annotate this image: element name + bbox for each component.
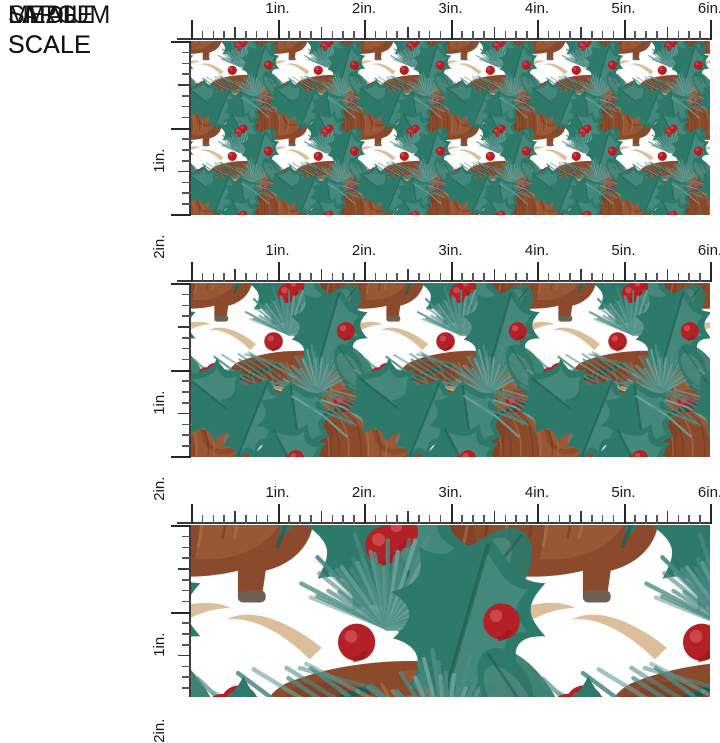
ruler-h-tick — [332, 31, 334, 40]
ruler-h-label: 5in. — [611, 484, 635, 501]
ruler-h-tick — [364, 504, 366, 524]
ruler-horizontal-large: 1in.2in.3in.4in.5in.6in. — [177, 502, 710, 524]
ruler-h-tick — [364, 20, 366, 40]
ruler-h-label: 2in. — [352, 484, 376, 501]
ruler-h-label: 6in. — [698, 484, 720, 501]
ruler-h-tick — [386, 515, 388, 524]
ruler-v-tick — [182, 337, 191, 339]
ruler-v-tick — [182, 622, 191, 624]
ruler-h-label: 5in. — [611, 242, 635, 259]
ruler-v-tick — [182, 203, 191, 205]
ruler-h-tick — [505, 273, 507, 282]
ruler-v-label: 1in. — [151, 148, 168, 172]
ruler-h-tick — [310, 31, 312, 40]
ruler-v-tick — [182, 149, 191, 151]
ruler-h-tick — [353, 31, 355, 40]
ruler-h-tick — [299, 31, 301, 40]
ruler-h-tick — [667, 269, 669, 282]
ruler-h-tick — [656, 515, 658, 524]
motif-holly-berry — [337, 322, 355, 340]
ruler-h-label: 6in. — [698, 0, 720, 17]
ruler-h-tick — [645, 273, 647, 282]
ruler-h-tick — [245, 273, 247, 282]
ruler-h-tick — [321, 27, 323, 40]
ruler-h-tick — [429, 31, 431, 40]
ruler-h-tick — [202, 31, 204, 40]
ruler-v-label: 2in. — [151, 235, 168, 259]
motif-holly-berry — [350, 61, 359, 70]
ruler-v-tick — [182, 644, 191, 646]
motif-holly-berry — [400, 66, 409, 75]
ruler-h-tick — [191, 262, 193, 282]
ruler-h-tick — [288, 273, 290, 282]
ruler-h-tick — [494, 511, 496, 524]
ruler-h-tick — [602, 515, 604, 524]
ruler-h-tick — [699, 31, 701, 40]
ruler-h-tick — [299, 515, 301, 524]
ruler-h-tick — [353, 515, 355, 524]
ruler-v-tick — [171, 370, 191, 372]
ruler-h-tick — [202, 273, 204, 282]
motif-holly-berry — [608, 61, 617, 70]
ruler-h-tick — [353, 273, 355, 282]
ruler-h-tick — [526, 31, 528, 40]
ruler-v-tick — [182, 305, 191, 307]
ruler-v-tick — [178, 568, 191, 570]
ruler-h-tick — [569, 31, 571, 40]
ruler-v-tick — [182, 192, 191, 194]
ruler-h-tick — [418, 273, 420, 282]
ruler-h-tick — [396, 273, 398, 282]
ruler-h-tick — [537, 262, 539, 282]
ruler-h-tick — [645, 515, 647, 524]
motif-holly-berry — [338, 624, 375, 661]
ruler-h-tick — [613, 31, 615, 40]
ruler-v-tick — [171, 41, 191, 43]
ruler-h-tick — [267, 273, 269, 282]
ruler-h-tick — [505, 31, 507, 40]
ruler-v-tick — [182, 402, 191, 404]
ruler-h-tick — [624, 20, 626, 40]
ruler-h-tick — [580, 269, 582, 282]
ruler-v-label: 2in. — [151, 477, 168, 501]
ruler-v-tick — [182, 348, 191, 350]
ruler-h-tick — [407, 27, 409, 40]
motif-holly-berry — [436, 61, 445, 70]
ruler-h-tick — [223, 31, 225, 40]
ruler-h-tick — [386, 31, 388, 40]
ruler-h-tick — [278, 20, 280, 40]
ruler-v-tick — [182, 391, 191, 393]
ruler-h-label: 4in. — [525, 484, 549, 501]
ruler-v-tick — [171, 283, 191, 285]
ruler-v-tick — [182, 380, 191, 382]
ruler-h-tick — [699, 515, 701, 524]
ruler-vertical-small: 1in.2in. — [169, 41, 191, 215]
ruler-h-tick — [483, 31, 485, 40]
ruler-v-tick — [182, 63, 191, 65]
motif-holly-berry — [228, 66, 237, 75]
ruler-h-label: 2in. — [352, 0, 376, 17]
ruler-h-tick — [559, 273, 561, 282]
ruler-h-tick — [526, 273, 528, 282]
motif-holly-berry — [264, 61, 273, 70]
ruler-h-tick — [407, 511, 409, 524]
ruler-v-tick — [178, 655, 191, 657]
ruler-h-tick — [580, 511, 582, 524]
motif-holly-berry — [522, 147, 531, 156]
ruler-h-tick — [710, 20, 712, 40]
ruler-h-tick — [634, 273, 636, 282]
motif-holly-berry — [486, 66, 495, 75]
ruler-h-tick — [451, 262, 453, 282]
ruler-h-tick — [375, 273, 377, 282]
ruler-h-tick — [667, 27, 669, 40]
motif-holly-berry — [608, 332, 627, 351]
ruler-h-tick — [634, 31, 636, 40]
ruler-h-tick — [461, 273, 463, 282]
ruler-v-label: 1in. — [151, 632, 168, 656]
ruler-h-tick — [483, 273, 485, 282]
ruler-h-tick — [278, 262, 280, 282]
ruler-h-tick — [559, 31, 561, 40]
ruler-h-label: 4in. — [525, 242, 549, 259]
ruler-h-tick — [515, 273, 517, 282]
ruler-h-tick — [234, 269, 236, 282]
ruler-h-tick — [223, 515, 225, 524]
ruler-h-tick — [548, 515, 550, 524]
ruler-h-tick — [213, 31, 215, 40]
ruler-v-tick — [171, 612, 191, 614]
ruler-horizontal-medium: 1in.2in.3in.4in.5in.6in. — [177, 260, 710, 282]
motif-holly-berry — [509, 322, 527, 340]
ruler-h-label: 3in. — [438, 0, 462, 17]
ruler-h-tick — [624, 262, 626, 282]
ruler-v-tick — [178, 84, 191, 86]
ruler-h-tick — [472, 273, 474, 282]
fabric-swatch-small — [191, 41, 710, 215]
ruler-h-tick — [688, 515, 690, 524]
motif-holly-berry — [264, 147, 273, 156]
motif-holly-berry — [572, 152, 581, 161]
ruler-v-tick — [182, 117, 191, 119]
ruler-h-tick — [256, 273, 258, 282]
ruler-h-tick — [375, 515, 377, 524]
ruler-v-tick — [171, 525, 191, 527]
ruler-v-tick — [182, 536, 191, 538]
ruler-v-label: 2in. — [151, 719, 168, 743]
ruler-h-tick — [429, 515, 431, 524]
ruler-v-tick — [182, 106, 191, 108]
motif-holly-berry — [400, 152, 409, 161]
fabric-swatch-large — [191, 525, 710, 697]
ruler-v-tick — [182, 52, 191, 54]
ruler-h-tick — [396, 31, 398, 40]
ruler-h-tick — [418, 515, 420, 524]
ruler-h-tick — [191, 504, 193, 524]
ruler-v-tick — [182, 601, 191, 603]
ruler-h-tick — [591, 273, 593, 282]
ruler-h-tick — [451, 504, 453, 524]
ruler-h-tick — [602, 31, 604, 40]
ruler-h-tick — [710, 262, 712, 282]
ruler-h-tick — [191, 20, 193, 40]
ruler-h-tick — [440, 515, 442, 524]
ruler-v-tick — [182, 547, 191, 549]
ruler-h-tick — [386, 273, 388, 282]
ruler-h-tick — [710, 504, 712, 524]
ruler-h-tick — [526, 515, 528, 524]
ruler-h-tick — [234, 27, 236, 40]
motif-holly-berry — [486, 152, 495, 161]
ruler-v-tick — [182, 294, 191, 296]
ruler-h-tick — [591, 515, 593, 524]
ruler-v-tick — [171, 456, 191, 458]
motif-holly-berry — [436, 332, 455, 351]
motif-holly-berry — [522, 61, 531, 70]
ruler-h-tick — [418, 31, 420, 40]
ruler-h-tick — [375, 31, 377, 40]
ruler-h-tick — [678, 31, 680, 40]
ruler-v-tick — [182, 160, 191, 162]
ruler-h-tick — [569, 515, 571, 524]
ruler-h-tick — [505, 515, 507, 524]
ruler-h-tick — [440, 31, 442, 40]
ruler-h-tick — [321, 511, 323, 524]
ruler-h-tick — [461, 515, 463, 524]
ruler-h-tick — [364, 262, 366, 282]
ruler-h-tick — [656, 31, 658, 40]
ruler-h-tick — [310, 273, 312, 282]
ruler-v-tick — [182, 676, 191, 678]
ruler-v-tick — [178, 413, 191, 415]
ruler-h-tick — [223, 273, 225, 282]
motif-holly-berry — [694, 147, 703, 156]
ruler-h-label: 3in. — [438, 242, 462, 259]
ruler-h-tick — [634, 515, 636, 524]
ruler-h-tick — [580, 27, 582, 40]
ruler-v-tick — [182, 633, 191, 635]
ruler-h-tick — [667, 511, 669, 524]
ruler-v-tick — [182, 424, 191, 426]
motif-holly-berry — [228, 152, 237, 161]
motif-holly-berry — [608, 147, 617, 156]
ruler-h-tick — [613, 515, 615, 524]
ruler-v-tick — [182, 557, 191, 559]
ruler-h-tick — [396, 515, 398, 524]
ruler-v-tick — [182, 434, 191, 436]
ruler-vertical-large: 1in.2in. — [169, 525, 191, 697]
ruler-h-tick — [494, 27, 496, 40]
ruler-h-tick — [602, 273, 604, 282]
ruler-h-tick — [537, 20, 539, 40]
ruler-v-tick — [178, 171, 191, 173]
ruler-h-label: 2in. — [352, 242, 376, 259]
ruler-h-tick — [245, 515, 247, 524]
ruler-v-tick — [182, 138, 191, 140]
ruler-h-tick — [515, 31, 517, 40]
ruler-h-label: 1in. — [265, 242, 289, 259]
ruler-h-tick — [591, 31, 593, 40]
motif-holly-berry — [314, 66, 323, 75]
ruler-h-tick — [310, 515, 312, 524]
ruler-h-tick — [472, 31, 474, 40]
scale-label-large: LARGE SCALE — [8, 0, 94, 60]
ruler-v-tick — [182, 73, 191, 75]
motif-holly-berry — [572, 66, 581, 75]
ruler-h-tick — [494, 269, 496, 282]
ruler-v-label: 1in. — [151, 390, 168, 414]
ruler-h-tick — [699, 273, 701, 282]
ruler-h-tick — [451, 20, 453, 40]
ruler-h-tick — [624, 504, 626, 524]
ruler-vertical-medium: 1in.2in. — [169, 283, 191, 457]
ruler-h-tick — [483, 515, 485, 524]
ruler-h-tick — [559, 515, 561, 524]
ruler-h-tick — [256, 31, 258, 40]
ruler-h-tick — [678, 273, 680, 282]
ruler-h-tick — [515, 515, 517, 524]
ruler-v-tick — [182, 579, 191, 581]
ruler-h-tick — [267, 515, 269, 524]
ruler-h-tick — [321, 269, 323, 282]
ruler-h-tick — [299, 273, 301, 282]
motif-holly-berry — [694, 61, 703, 70]
ruler-h-tick — [288, 31, 290, 40]
ruler-h-tick — [656, 273, 658, 282]
ruler-h-label: 5in. — [611, 0, 635, 17]
ruler-h-tick — [332, 273, 334, 282]
ruler-h-label: 1in. — [265, 0, 289, 17]
ruler-v-tick — [182, 95, 191, 97]
ruler-h-tick — [202, 515, 204, 524]
motif-holly-berry — [264, 332, 283, 351]
ruler-h-tick — [267, 31, 269, 40]
ruler-h-tick — [461, 31, 463, 40]
ruler-h-tick — [429, 273, 431, 282]
ruler-h-tick — [245, 31, 247, 40]
motif-holly-berry — [350, 147, 359, 156]
ruler-h-tick — [256, 515, 258, 524]
ruler-h-tick — [548, 273, 550, 282]
ruler-h-tick — [688, 31, 690, 40]
ruler-v-tick — [182, 687, 191, 689]
ruler-h-tick — [688, 273, 690, 282]
ruler-horizontal-small: 1in.2in.3in.4in.5in.6in. — [177, 18, 710, 40]
motif-holly-berry — [314, 152, 323, 161]
ruler-h-tick — [288, 515, 290, 524]
motif-holly-berry — [436, 147, 445, 156]
motif-holly-berry — [658, 66, 667, 75]
ruler-h-label: 6in. — [698, 242, 720, 259]
motif-holly-berry — [483, 603, 519, 639]
ruler-h-tick — [213, 515, 215, 524]
ruler-h-label: 1in. — [265, 484, 289, 501]
ruler-v-tick — [182, 182, 191, 184]
ruler-h-tick — [342, 273, 344, 282]
ruler-h-tick — [613, 273, 615, 282]
ruler-h-label: 4in. — [525, 0, 549, 17]
ruler-h-tick — [407, 269, 409, 282]
ruler-v-tick — [182, 445, 191, 447]
ruler-h-tick — [342, 31, 344, 40]
ruler-h-tick — [213, 273, 215, 282]
ruler-h-tick — [278, 504, 280, 524]
ruler-h-label: 3in. — [438, 484, 462, 501]
fabric-swatch-medium — [191, 283, 710, 457]
ruler-v-tick — [182, 315, 191, 317]
ruler-h-tick — [548, 31, 550, 40]
motif-holly-berry — [658, 152, 667, 161]
ruler-h-tick — [234, 511, 236, 524]
motif-holly-berry — [681, 322, 699, 340]
ruler-v-tick — [171, 214, 191, 216]
ruler-h-tick — [440, 273, 442, 282]
ruler-h-tick — [569, 273, 571, 282]
ruler-v-tick — [182, 359, 191, 361]
ruler-h-tick — [332, 515, 334, 524]
ruler-v-tick — [182, 666, 191, 668]
ruler-v-tick — [182, 590, 191, 592]
ruler-h-tick — [537, 504, 539, 524]
ruler-h-tick — [342, 515, 344, 524]
ruler-h-tick — [472, 515, 474, 524]
ruler-h-tick — [678, 515, 680, 524]
ruler-v-tick — [171, 128, 191, 130]
ruler-v-tick — [178, 326, 191, 328]
ruler-h-tick — [645, 31, 647, 40]
